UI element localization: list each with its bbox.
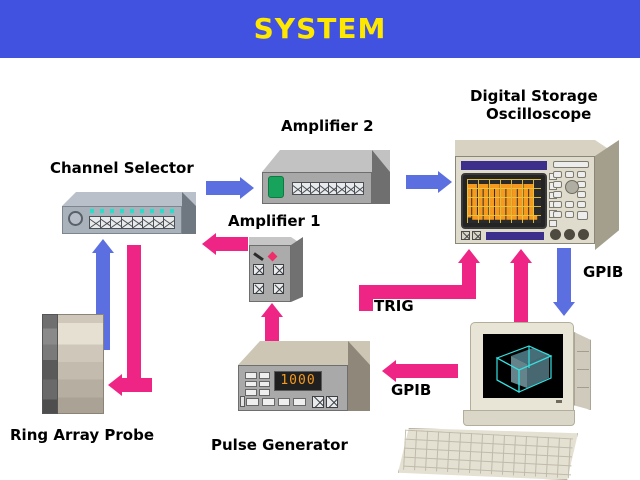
label-pulse-generator: Pulse Generator <box>211 437 348 454</box>
pulse-generator-connector-row[interactable] <box>312 396 338 408</box>
oscilloscope-bnc-3[interactable] <box>578 229 589 240</box>
system-diagram: SYSTEM Channel Selector Amplifier 2 Ampl… <box>0 0 640 480</box>
arrow-pulsegen-to-amp1-head <box>261 303 283 317</box>
oscilloscope-bnc-1[interactable] <box>550 229 561 240</box>
arrow-selector-to-probe-v <box>127 245 141 378</box>
oscilloscope-control-panel[interactable] <box>551 161 591 227</box>
amplifier-1-connector-grid[interactable] <box>253 264 287 296</box>
arrow-selector-to-probe-h <box>122 378 152 392</box>
arrow-selector-to-amp2-shaft <box>206 181 240 195</box>
oscilloscope-panel-button-1[interactable] <box>553 171 562 178</box>
arrow-pc-to-scope-head <box>510 249 532 263</box>
oscilloscope-screen-bezel <box>461 173 547 229</box>
oscilloscope-panel-button-7[interactable] <box>577 191 586 198</box>
arrow-amp2-to-scope-shaft <box>406 175 438 189</box>
channel-selector-led-row <box>90 209 174 214</box>
arrow-trig-head <box>458 249 480 263</box>
arrow-selector-to-probe-head <box>108 374 122 396</box>
label-oscilloscope-line2: Oscilloscope <box>486 106 591 123</box>
arrow-amp1-to-selector-head <box>202 233 216 255</box>
arrow-scope-to-pc-shaft <box>557 248 571 302</box>
pulse-generator-keypad[interactable] <box>245 372 270 396</box>
pulse-generator-button-row[interactable] <box>246 398 306 406</box>
label-trig: TRIG <box>374 298 414 315</box>
oscilloscope-top <box>455 140 619 156</box>
page-title: SYSTEM <box>0 12 640 45</box>
channel-selector-connector-row[interactable] <box>89 216 175 229</box>
oscilloscope-panel-button-3[interactable] <box>577 171 586 178</box>
oscilloscope-graticule <box>467 179 541 223</box>
label-amplifier-2: Amplifier 2 <box>281 118 374 135</box>
oscilloscope-main-knob[interactable] <box>565 180 579 194</box>
pulse-generator-power-switch[interactable] <box>240 396 245 407</box>
arrow-trig-v <box>462 263 476 299</box>
oscilloscope-panel-button-2[interactable] <box>565 171 574 178</box>
oscilloscope-panel-button-6[interactable] <box>553 191 562 198</box>
computer-power-led <box>556 400 562 403</box>
channel-selector-knob[interactable] <box>68 211 83 226</box>
wireframe-cube-icon <box>483 334 563 398</box>
amplifier-2-connector-row[interactable] <box>292 182 364 195</box>
ring-array-probe-element-stack <box>42 314 58 414</box>
arrow-pc-to-pulsegen-head <box>382 360 396 382</box>
oscilloscope-panel-button-4[interactable] <box>553 181 562 188</box>
label-channel-selector: Channel Selector <box>50 160 194 177</box>
computer-monitor-base <box>463 410 575 426</box>
oscilloscope-panel-button-13[interactable] <box>577 211 588 220</box>
oscilloscope-bnc-2[interactable] <box>564 229 575 240</box>
label-oscilloscope-line1: Digital Storage <box>470 88 598 105</box>
arrow-pc-to-scope-shaft <box>514 263 528 325</box>
amplifier-2-top <box>262 150 390 172</box>
arrow-amp1-to-selector-shaft <box>216 237 248 251</box>
arrow-trig-drop <box>359 285 373 311</box>
oscilloscope-side <box>595 140 619 250</box>
oscilloscope-panel-button-bar[interactable] <box>553 161 589 168</box>
arrow-probe-to-selector-head <box>92 239 114 253</box>
oscilloscope-bottom-bar <box>486 232 544 240</box>
arrow-trig-h <box>359 285 469 299</box>
oscilloscope-connector-1[interactable] <box>461 231 470 240</box>
arrow-scope-to-pc-head <box>553 302 575 316</box>
label-gpib-bottom: GPIB <box>391 382 431 399</box>
computer-side-panel <box>574 332 591 410</box>
oscilloscope-connector-2[interactable] <box>472 231 481 240</box>
label-gpib-right: GPIB <box>583 264 623 281</box>
arrow-amp2-to-scope-head <box>438 171 452 193</box>
oscilloscope-panel-button-10[interactable] <box>577 201 586 208</box>
arrow-selector-to-amp2-head <box>240 177 254 199</box>
oscilloscope-panel-button-8[interactable] <box>553 201 562 208</box>
oscilloscope-panel-button-9[interactable] <box>565 201 574 208</box>
label-amplifier-1: Amplifier 1 <box>228 213 321 230</box>
arrow-pulsegen-to-amp1-shaft <box>265 317 279 343</box>
oscilloscope-panel-button-12[interactable] <box>565 211 574 218</box>
title-banner: SYSTEM <box>0 0 640 58</box>
pulse-generator-display: 1000 <box>274 371 322 391</box>
amplifier-2-power-indicator <box>268 176 284 198</box>
arrow-pc-to-pulsegen-shaft <box>396 364 458 378</box>
label-ring-array-probe: Ring Array Probe <box>10 427 154 444</box>
channel-selector-top <box>62 192 196 206</box>
oscilloscope-screen <box>467 179 541 223</box>
oscilloscope-top-bar <box>461 161 547 170</box>
oscilloscope-panel-button-11[interactable] <box>553 211 562 218</box>
amplifier-1-side <box>291 237 303 302</box>
